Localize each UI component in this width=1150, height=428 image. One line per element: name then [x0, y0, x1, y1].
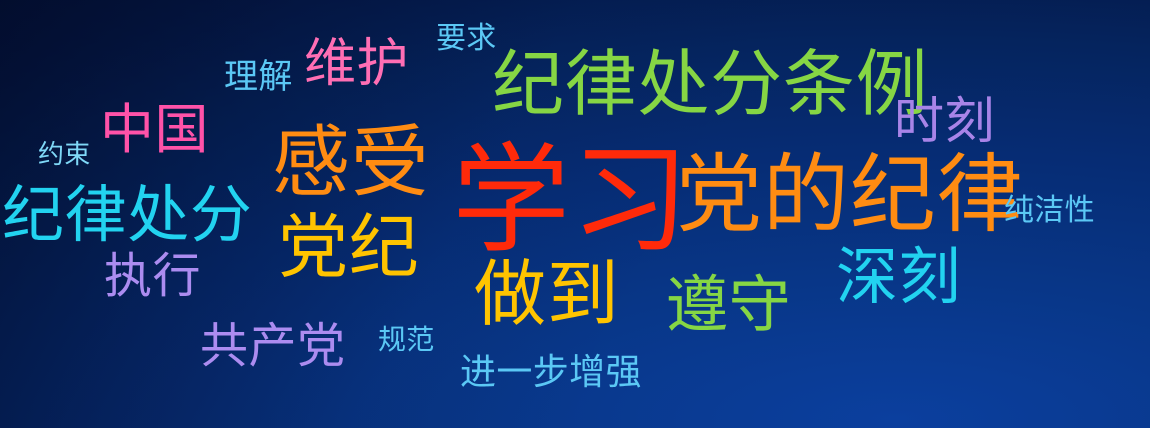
- word-cloud-term: 学习: [452, 141, 690, 259]
- word-cloud-term: 党的纪律: [676, 152, 1023, 238]
- word-cloud-term: 纪律处分: [2, 184, 252, 246]
- word-cloud-term: 理解: [224, 60, 293, 94]
- word-cloud-term: 规范: [378, 326, 435, 354]
- word-cloud-term: 时刻: [894, 96, 995, 146]
- word-cloud-term: 中国: [100, 103, 209, 157]
- word-cloud-term: 维护: [304, 38, 409, 90]
- word-cloud-term: 纯洁性: [1004, 196, 1095, 226]
- word-cloud-term: 感受: [272, 124, 430, 202]
- word-cloud-term: 共产党: [200, 322, 345, 370]
- word-cloud-term: 党纪: [278, 212, 419, 282]
- word-cloud-term: 做到: [474, 258, 619, 330]
- word-cloud-term: 约束: [38, 142, 91, 168]
- word-cloud-term: 执行: [104, 252, 201, 300]
- word-cloud-term: 进一步增强: [460, 355, 642, 391]
- word-cloud-term: 深刻: [836, 246, 961, 308]
- word-cloud-term: 纪律处分条例: [492, 48, 928, 120]
- word-cloud-term: 要求: [436, 24, 497, 54]
- word-cloud-canvas: 学习党的纪律纪律处分条例感受纪律处分做到党纪遵守深刻共产党维护中国执行时刻进一步…: [0, 0, 1150, 428]
- word-cloud-term: 遵守: [666, 274, 791, 336]
